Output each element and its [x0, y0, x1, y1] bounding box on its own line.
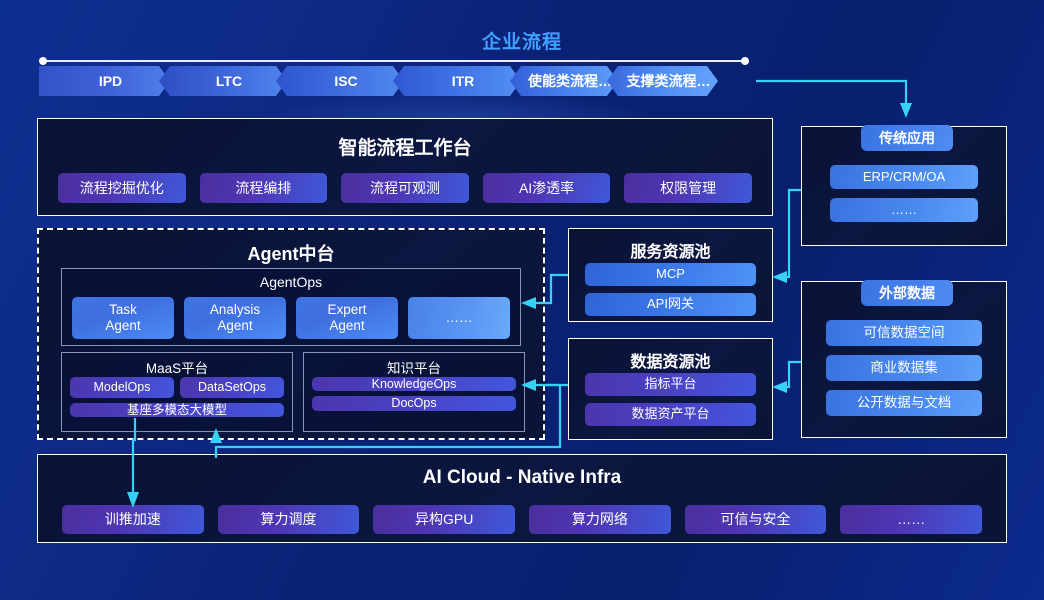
agent-line1: Expert	[327, 302, 366, 318]
agent-line2: Agent	[105, 318, 140, 334]
knowledge-knowledgeops[interactable]: KnowledgeOps	[312, 377, 516, 391]
external-trusted-data-space[interactable]: 可信数据空间	[826, 320, 982, 346]
agent-line1: Analysis	[210, 302, 260, 318]
connector-external-data-to-data-pool	[772, 362, 801, 393]
connector-process-to-traditional-apps	[756, 81, 912, 118]
infra-compute-scheduling[interactable]: 算力调度	[218, 505, 360, 534]
connector-traditional-apps-to-service-pool	[772, 190, 801, 283]
agent-line1: ……	[446, 310, 473, 326]
service-resource-pool-panel: 服务资源池 MCP API网关	[568, 228, 773, 322]
stage-label: IPD	[99, 73, 122, 89]
agentops-title: AgentOps	[62, 274, 520, 290]
stage-label: ISC	[334, 73, 357, 89]
infra-more[interactable]: ……	[840, 505, 982, 534]
stage-label: 支撑类流程…	[627, 71, 711, 91]
process-stage-enabling[interactable]: 使能类流程…	[510, 66, 618, 96]
maas-modelops[interactable]: ModelOps	[70, 377, 174, 398]
traditional-app-list: ERP/CRM/OA ……	[830, 165, 978, 222]
data-asset-platform[interactable]: 数据资产平台	[585, 403, 756, 426]
data-pool-item-list: 指标平台 数据资产平台	[585, 373, 756, 426]
external-data-caption: 外部数据	[861, 280, 953, 306]
capability-process-orchestration[interactable]: 流程编排	[200, 173, 328, 203]
process-stage-isc[interactable]: ISC	[276, 66, 404, 96]
service-mcp[interactable]: MCP	[585, 263, 756, 286]
infra-training-inference-accel[interactable]: 训推加速	[62, 505, 204, 534]
maas-item-row: ModelOps DataSetOps	[70, 377, 284, 398]
traditional-applications-caption: 传统应用	[861, 125, 953, 151]
ai-cloud-native-infra-panel: AI Cloud - Native Infra 训推加速 算力调度 异构GPU …	[37, 454, 1007, 543]
intelligent-process-workbench-panel: 智能流程工作台 流程挖掘优化 流程编排 流程可观测 AI渗透率 权限管理	[37, 118, 773, 216]
infra-compute-network[interactable]: 算力网络	[529, 505, 671, 534]
maas-platform-box: MaaS平台 ModelOps DataSetOps 基座多模态大模型	[61, 352, 293, 432]
process-stage-itr[interactable]: ITR	[393, 66, 521, 96]
agent-line1: Task	[109, 302, 137, 318]
workbench-title: 智能流程工作台	[38, 133, 772, 160]
rail-dot-left	[39, 57, 47, 65]
maas-foundation-model[interactable]: 基座多模态大模型	[70, 403, 284, 417]
service-api-gateway[interactable]: API网关	[585, 293, 756, 316]
knowledge-docops[interactable]: DocOps	[312, 396, 516, 410]
process-chevron-bar: IPD LTC ISC ITR 使能类流程… 支撑类流程…	[39, 66, 707, 96]
process-stage-ltc[interactable]: LTC	[159, 66, 287, 96]
agent-hub-title: Agent中台	[39, 240, 543, 266]
external-data-list: 可信数据空间 商业数据集 公开数据与文档	[826, 320, 982, 416]
rail-line	[43, 60, 745, 62]
stage-label: ITR	[452, 73, 475, 89]
knowledge-item-list: KnowledgeOps DocOps	[312, 377, 516, 411]
maas-item-list: ModelOps DataSetOps 基座多模态大模型	[70, 377, 284, 417]
infra-trust-security[interactable]: 可信与安全	[685, 505, 827, 534]
process-rail	[39, 57, 749, 65]
process-title: 企业流程	[0, 27, 1044, 54]
external-public-data-docs[interactable]: 公开数据与文档	[826, 390, 982, 416]
process-stage-supporting[interactable]: 支撑类流程…	[607, 66, 718, 96]
data-pool-title: 数据资源池	[569, 348, 772, 372]
external-commercial-dataset[interactable]: 商业数据集	[826, 355, 982, 381]
capability-process-mining[interactable]: 流程挖掘优化	[58, 173, 186, 203]
agent-hub-panel: Agent中台 AgentOps Task Agent Analysis Age…	[37, 228, 545, 440]
capability-ai-penetration[interactable]: AI渗透率	[483, 173, 611, 203]
infra-item-list: 训推加速 算力调度 异构GPU 算力网络 可信与安全 ……	[62, 505, 982, 534]
capability-process-observability[interactable]: 流程可观测	[341, 173, 469, 203]
capability-permission-management[interactable]: 权限管理	[624, 173, 752, 203]
agentops-box: AgentOps Task Agent Analysis Agent Exper…	[61, 268, 521, 346]
traditional-app-more[interactable]: ……	[830, 198, 978, 222]
service-pool-item-list: MCP API网关	[585, 263, 756, 316]
traditional-app-erp-crm-oa[interactable]: ERP/CRM/OA	[830, 165, 978, 189]
maas-title: MaaS平台	[62, 357, 292, 377]
agent-line2: Agent	[329, 318, 364, 334]
infra-title: AI Cloud - Native Infra	[38, 467, 1006, 489]
stage-label: 使能类流程…	[528, 71, 612, 91]
knowledge-title: 知识平台	[304, 357, 524, 377]
agent-line2: Agent	[217, 318, 252, 334]
rail-dot-right	[741, 57, 749, 65]
agent-analysis[interactable]: Analysis Agent	[184, 297, 286, 339]
service-pool-title: 服务资源池	[569, 238, 772, 262]
stage-label: LTC	[216, 73, 242, 89]
data-metric-platform[interactable]: 指标平台	[585, 373, 756, 396]
maas-datasetops[interactable]: DataSetOps	[180, 377, 284, 398]
knowledge-platform-box: 知识平台 KnowledgeOps DocOps	[303, 352, 525, 432]
workbench-capability-list: 流程挖掘优化 流程编排 流程可观测 AI渗透率 权限管理	[58, 173, 752, 203]
diagram-canvas: 企业流程 IPD LTC ISC ITR 使能类流程… 支撑类流程… 智能流程工…	[0, 0, 1044, 600]
infra-heterogeneous-gpu[interactable]: 异构GPU	[373, 505, 515, 534]
data-resource-pool-panel: 数据资源池 指标平台 数据资产平台	[568, 338, 773, 440]
process-stage-ipd[interactable]: IPD	[39, 66, 170, 96]
agent-expert[interactable]: Expert Agent	[296, 297, 398, 339]
agent-more[interactable]: ……	[408, 297, 510, 339]
agent-list: Task Agent Analysis Agent Expert Agent ……	[72, 297, 510, 339]
agent-task[interactable]: Task Agent	[72, 297, 174, 339]
